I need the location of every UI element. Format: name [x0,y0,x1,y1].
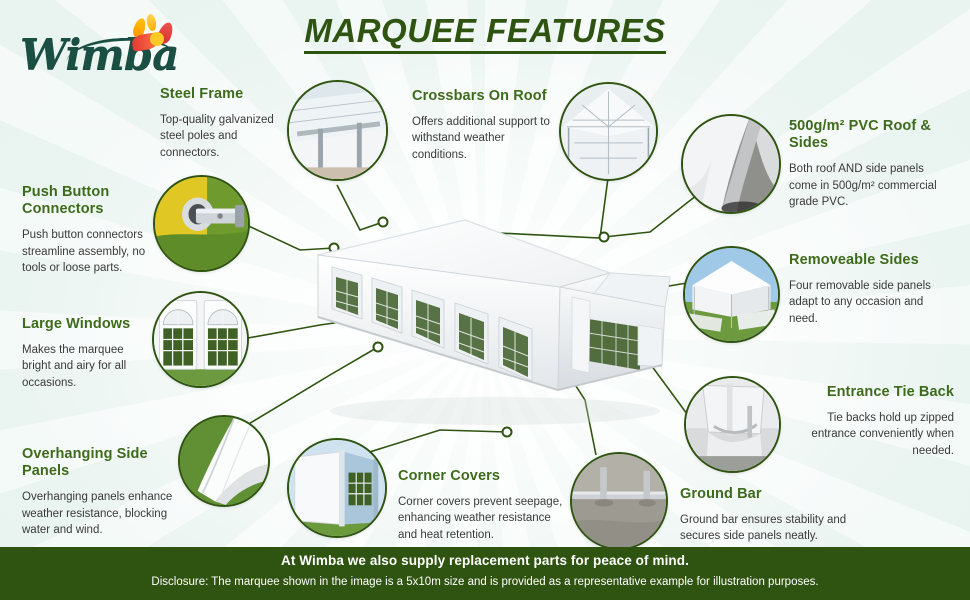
large-windows-photo [152,291,249,388]
feature-body: Both roof AND side panels come in 500g/m… [789,161,951,210]
roof-crossbars-photo [559,82,658,181]
feature-crossbars-on-roof: Crossbars On Roof Offers additional supp… [412,88,552,163]
pvc-fabric-photo [681,114,781,214]
feature-body: Makes the marquee bright and airy for al… [22,342,152,391]
feature-body: Ground bar ensures stability and secures… [680,512,860,545]
feature-push-button-connectors: Push Button Connectors Push button conne… [22,184,162,276]
feature-corner-covers: Corner Covers Corner covers prevent seep… [398,468,563,543]
feature-title: Overhanging Side Panels [22,446,182,480]
steel-frame-photo [287,80,388,181]
entrance-tie-back-photo [684,376,781,473]
corner-cover-photo [287,438,387,538]
feature-large-windows: Large Windows Makes the marquee bright a… [22,316,152,391]
feature-body: Top-quality galvanized steel poles and c… [160,112,290,161]
feature-ground-bar: Ground Bar Ground bar ensures stability … [680,486,860,545]
feature-steel-frame: Steel Frame Top-quality galvanized steel… [160,86,290,161]
footer-headline: At Wimba we also supply replacement part… [0,553,970,568]
feature-body: Offers additional support to withstand w… [412,114,552,163]
overhanging-panel-photo [178,415,270,507]
feature-title: 500g/m² PVC Roof & Sides [789,118,951,152]
marquee-tent-illustration [310,215,680,450]
feature-body: Corner covers prevent seepage, enhancing… [398,494,563,543]
footer-disclosure: Disclosure: The marquee shown in the ima… [0,576,970,588]
feature-pvc-roof-and-sides: 500g/m² PVC Roof & Sides Both roof AND s… [789,118,951,210]
feature-title: Corner Covers [398,468,563,485]
feature-title: Large Windows [22,316,152,333]
infographic-canvas: Wimba MARQUEE FEATURES [0,0,970,600]
feature-body: Tie backs hold up zipped entrance conven… [782,410,954,459]
feature-overhanging-side-panels: Overhanging Side Panels Overhanging pane… [22,446,182,538]
ground-bar-photo [570,452,668,550]
feature-title: Crossbars On Roof [412,88,552,105]
feature-title: Ground Bar [680,486,860,503]
feature-title: Steel Frame [160,86,290,103]
feature-removeable-sides: Removeable Sides Four removable side pan… [789,252,954,327]
feature-body: Four removable side panels adapt to any … [789,278,954,327]
feature-entrance-tie-back: Entrance Tie Back Tie backs hold up zipp… [782,384,954,459]
feature-body: Overhanging panels enhance weather resis… [22,489,182,538]
feature-body: Push button connectors streamline assemb… [22,227,162,276]
push-button-connector-photo [153,175,250,272]
feature-title: Entrance Tie Back [782,384,954,401]
removable-sides-photo [683,246,780,343]
footer-banner: At Wimba we also supply replacement part… [0,547,970,600]
feature-title: Push Button Connectors [22,184,162,218]
feature-title: Removeable Sides [789,252,954,269]
